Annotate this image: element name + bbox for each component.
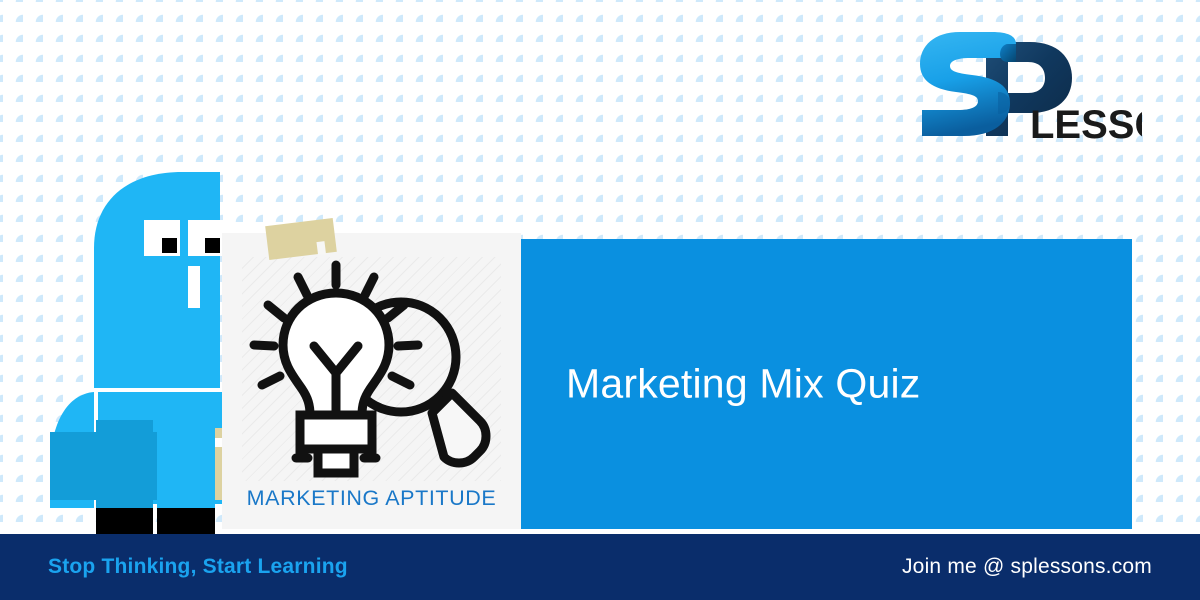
- bulb-base: [300, 415, 372, 449]
- footer-call-to-action[interactable]: Join me @ splessons.com: [902, 555, 1152, 579]
- bulb-screw: [318, 449, 354, 473]
- ray-upper-right: [365, 277, 374, 295]
- ray-left-lower: [262, 376, 280, 385]
- mascot-leg-left: [96, 420, 153, 508]
- title-panel: Marketing Mix Quiz: [521, 239, 1132, 529]
- ray-right: [398, 345, 418, 346]
- mascot-pupil-right: [205, 238, 220, 253]
- promo-banner: LESSONS: [0, 0, 1200, 600]
- topic-label: MARKETING APTITUDE: [222, 486, 521, 511]
- mascot-shoe-left: [96, 508, 153, 534]
- ray-right-lower: [392, 376, 410, 385]
- tape-strip-icon: [265, 218, 337, 260]
- ray-left: [254, 345, 274, 346]
- footer-tagline: Stop Thinking, Start Learning: [48, 555, 348, 579]
- mascot-nose: [188, 266, 200, 308]
- logo-wordmark: LESSONS: [1030, 103, 1142, 147]
- ray-left-upper: [268, 305, 284, 318]
- ray-upper-left: [298, 277, 307, 295]
- mascot-head: [94, 172, 220, 388]
- mascot-leg-right: [157, 420, 215, 508]
- tape-notch: [316, 241, 326, 255]
- mascot-neck-line: [94, 388, 225, 392]
- lightbulb-magnifier-illustration: [236, 253, 496, 483]
- page-title: Marketing Mix Quiz: [566, 361, 920, 408]
- footer-bar: Stop Thinking, Start Learning Join me @ …: [0, 534, 1200, 600]
- mascot-pupil-left: [162, 238, 177, 253]
- splessons-logo[interactable]: LESSONS: [912, 30, 1142, 150]
- topic-card: MARKETING APTITUDE: [222, 233, 521, 529]
- mascot-shoe-right: [157, 508, 215, 534]
- magnifier-handle: [432, 393, 486, 463]
